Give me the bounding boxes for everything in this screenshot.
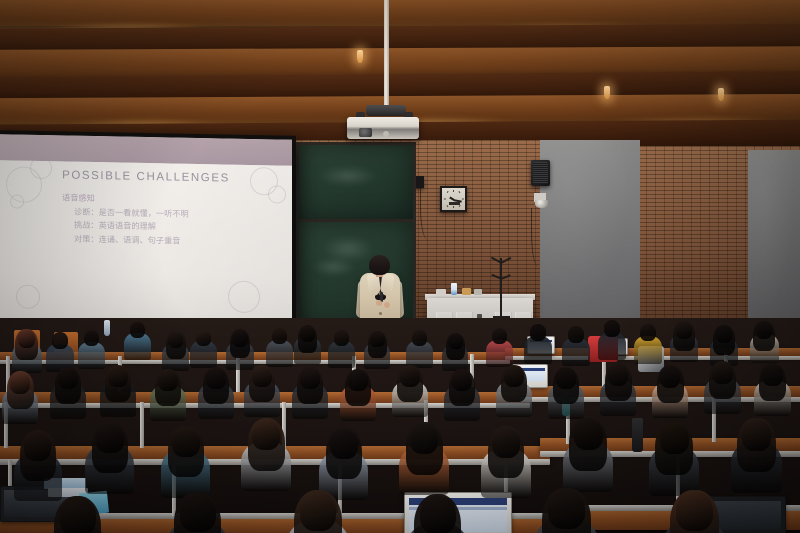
student-head: [556, 368, 576, 389]
student-head: [60, 498, 96, 533]
projector-sensor-icon: [383, 131, 389, 137]
student-head: [660, 424, 689, 454]
student-head: [300, 326, 315, 342]
lecture-hall-photo: POSSIBLE CHALLENGES 语音感知 诊断：是否一看就懂，一听不明 …: [0, 0, 800, 533]
cove-light-fixture: [604, 86, 610, 99]
student-head: [676, 322, 692, 339]
cable: [531, 208, 542, 266]
student-head: [252, 366, 272, 387]
student-head: [10, 372, 30, 394]
student-head: [24, 432, 51, 461]
student-head: [96, 424, 124, 453]
cove-light-fixture: [718, 88, 724, 101]
student-head: [272, 328, 287, 344]
wall-speaker: [531, 160, 550, 186]
student-head: [452, 370, 472, 391]
presenter-hair: [369, 255, 390, 275]
student-head: [18, 330, 35, 348]
student-head: [206, 368, 226, 389]
bottle: [104, 320, 110, 336]
student-head: [58, 368, 78, 389]
student-head: [410, 424, 438, 454]
desk-object: [474, 289, 482, 295]
coat-rack-stand: [500, 258, 502, 318]
student-head: [180, 494, 216, 532]
student-head: [660, 366, 680, 388]
projector-lens-icon: [359, 128, 372, 137]
student-head: [492, 428, 520, 458]
concrete-wall-right: [748, 150, 800, 330]
student-head: [448, 334, 463, 349]
student-head: [84, 330, 99, 346]
projector-mount-pole: [384, 0, 389, 109]
student-head: [412, 330, 427, 346]
cable: [420, 186, 433, 240]
student-head: [676, 492, 713, 531]
student-head: [400, 366, 420, 387]
student-head: [370, 332, 385, 347]
dome-security-camera: [535, 200, 548, 208]
student-head: [756, 322, 772, 339]
projection-screen: POSSIBLE CHALLENGES 语音感知 诊断：是否一看就懂，一听不明 …: [0, 130, 296, 329]
student-head: [420, 496, 456, 533]
student-head: [158, 370, 178, 391]
student-head: [300, 368, 320, 389]
student-head: [348, 370, 368, 391]
student-head: [330, 430, 358, 459]
projector-bracket: [366, 105, 406, 116]
student-head: [568, 326, 584, 343]
student-head: [232, 330, 248, 347]
student-head: [530, 324, 546, 341]
desk-object: [462, 288, 471, 295]
student-head: [108, 366, 128, 387]
student-head: [640, 324, 656, 341]
wall-clock: [440, 186, 467, 212]
slide-bullet-list: 语音感知 诊断：是否一看就懂，一听不明 挑战：英语语音的理解 对策：连诵、语调、…: [62, 191, 282, 249]
student-head: [574, 420, 603, 450]
student-head: [548, 490, 585, 529]
cove-light-fixture: [357, 50, 363, 63]
student-head: [300, 492, 336, 531]
student-head: [742, 420, 771, 451]
student-head: [604, 320, 620, 337]
student-head: [716, 326, 732, 343]
desk-object: [436, 289, 446, 295]
student-head: [52, 332, 68, 349]
student-head: [712, 362, 733, 384]
student-head: [334, 330, 349, 346]
student-head: [608, 364, 628, 386]
student-head: [252, 420, 280, 450]
water-bottle: [451, 283, 457, 295]
tumbler: [632, 418, 643, 452]
student-head: [504, 366, 524, 387]
student-head: [196, 330, 211, 346]
student-head: [130, 322, 145, 338]
student-head: [492, 328, 507, 344]
student-head: [762, 364, 783, 386]
concrete-wall: [540, 140, 640, 332]
student-head: [168, 332, 183, 348]
student-head: [172, 428, 200, 457]
